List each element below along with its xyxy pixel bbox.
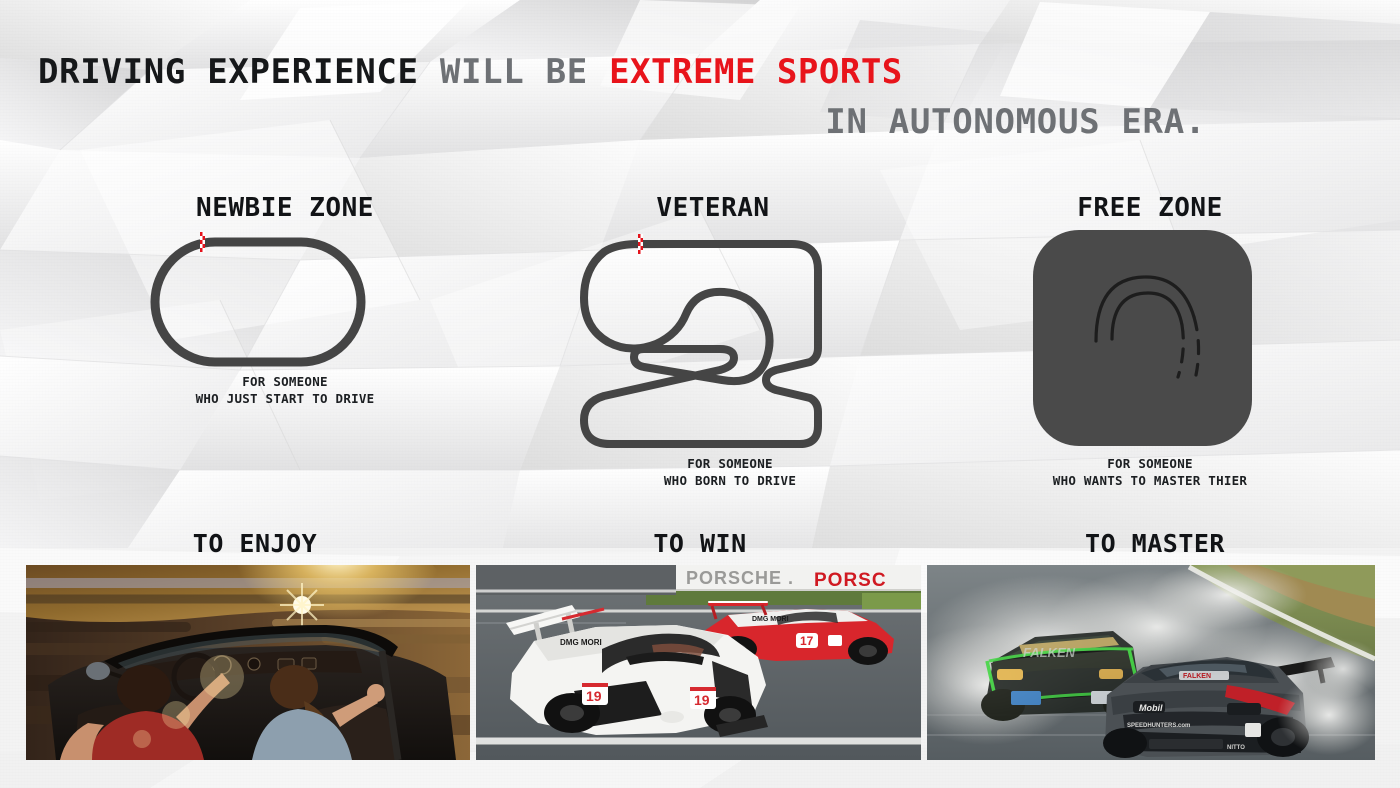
photo-label-to-enjoy: TO ENJOY: [135, 530, 375, 558]
skid-pad-icon: [1030, 227, 1255, 449]
headline-part-extreme-sports: EXTREME SPORTS: [609, 52, 903, 92]
svg-text:19: 19: [586, 688, 602, 704]
svg-text:PORSC: PORSC: [814, 570, 887, 591]
svg-text:DMG MORI: DMG MORI: [560, 638, 602, 647]
svg-text:FALKEN: FALKEN: [1023, 645, 1076, 660]
zone-subtitle-veteran: FOR SOMEONE WHO BORN TO DRIVE: [585, 455, 875, 489]
skid-pad-surface: [1033, 230, 1252, 446]
photo-label-to-win: TO WIN: [595, 530, 805, 558]
start-finish-line-veteran: [638, 234, 643, 254]
slide-canvas: DRIVING EXPERIENCE WILL BE EXTREME SPORT…: [0, 0, 1400, 788]
oval-track-icon: [148, 232, 368, 372]
track-path-oval: [155, 242, 361, 362]
photo-convertible-sunset: [26, 565, 470, 760]
photo-convertible-sunset-art: [26, 565, 470, 760]
zone-title-newbie: NEWBIE ZONE: [125, 193, 445, 223]
svg-text:FALKEN: FALKEN: [1183, 673, 1211, 680]
headline-block: DRIVING EXPERIENCE WILL BE EXTREME SPORT…: [38, 52, 1358, 142]
track-path-circuit: [584, 244, 818, 444]
circuit-track-icon: [560, 230, 850, 455]
photo-label-to-master: TO MASTER: [1035, 530, 1275, 558]
svg-text:SPEEDHUNTERS.com: SPEEDHUNTERS.com: [1127, 723, 1190, 729]
headline-line-1: DRIVING EXPERIENCE WILL BE EXTREME SPORT…: [38, 52, 1358, 92]
svg-text:19: 19: [694, 692, 710, 708]
photo-drift-cars-smoke: FALKEN: [927, 565, 1375, 760]
photo-drift-cars-smoke-art: FALKEN: [927, 565, 1375, 760]
zone-title-veteran: VETERAN: [578, 193, 848, 223]
track-diagram-newbie: [148, 232, 368, 372]
headline-part-will-be: WILL BE: [419, 52, 609, 92]
headline-part-driving-experience: DRIVING EXPERIENCE: [38, 52, 419, 92]
svg-text:PORSCHE .: PORSCHE .: [686, 568, 794, 588]
svg-text:Mobil: Mobil: [1139, 703, 1163, 713]
start-finish-line-newbie: [200, 232, 205, 252]
svg-text:17: 17: [800, 634, 814, 648]
track-diagram-veteran: [560, 230, 850, 455]
zone-subtitle-newbie: FOR SOMEONE WHO JUST START TO DRIVE: [130, 373, 440, 407]
svg-text:NITTO: NITTO: [1227, 745, 1245, 751]
headline-line-2: IN AUTONOMOUS ERA.: [38, 102, 1358, 142]
zone-title-free: FREE ZONE: [1020, 193, 1280, 223]
photo-strip: PORSCHE . PORSC: [26, 565, 1375, 760]
zone-subtitle-free: FOR SOMEONE WHO WANTS TO MASTER THIER: [1000, 455, 1300, 489]
photo-porsche-lmp1-race-art: PORSCHE . PORSC: [476, 565, 921, 760]
svg-text:DMG MORI: DMG MORI: [752, 616, 789, 623]
photo-porsche-lmp1-race: PORSCHE . PORSC: [476, 565, 921, 760]
track-diagram-free: [1030, 227, 1255, 449]
